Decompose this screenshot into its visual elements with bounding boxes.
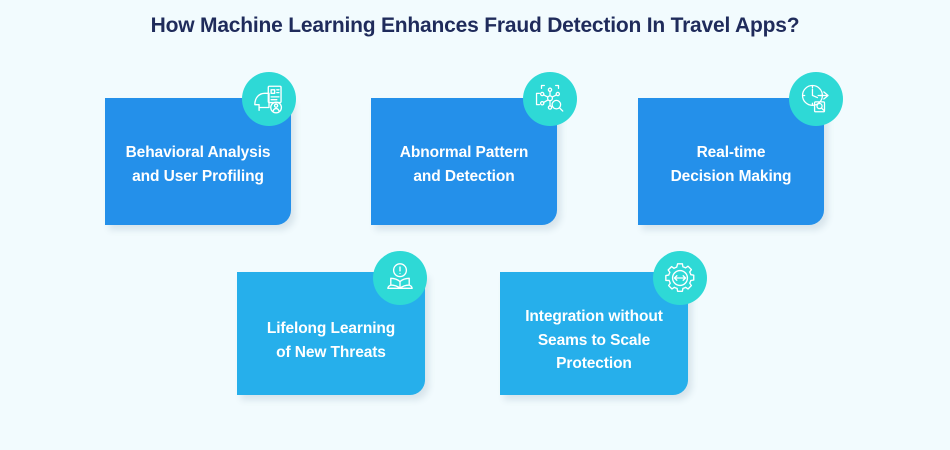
infographic-container: How Machine Learning Enhances Fraud Dete… [0,0,950,450]
card-label: Real-time Decision Making [661,135,802,188]
head-document-user-icon [242,72,296,126]
clock-arrow-search-icon [789,72,843,126]
card-label: Abnormal Pattern and Detection [390,135,538,188]
book-alert-icon [373,251,427,305]
card-label: Integration without Seams to Scale Prote… [515,291,673,376]
card-label: Behavioral Analysis and User Profiling [116,135,281,188]
network-magnifier-icon [523,72,577,126]
card-label: Lifelong Learning of New Threats [257,303,405,364]
gear-scale-arrows-icon [653,251,707,305]
page-title: How Machine Learning Enhances Fraud Dete… [0,14,950,38]
